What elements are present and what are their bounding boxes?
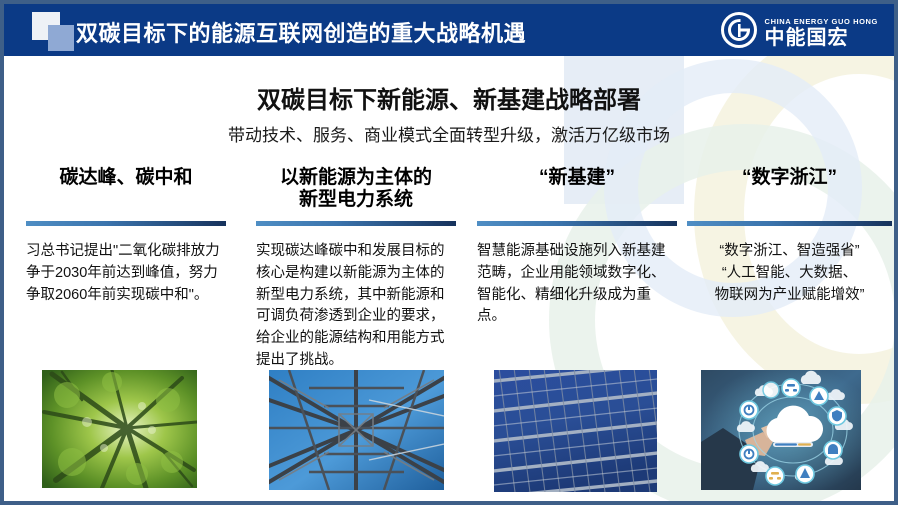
page-subtitle: 带动技术、服务、商业模式全面转型升级，激活万亿级市场 xyxy=(4,121,894,146)
transmission-tower-photo xyxy=(269,370,444,490)
column-body-text: 智慧能源基础设施列入新基建范畴，企业用能领域数字化、智能化、精细化升级成为重点。 xyxy=(477,241,677,328)
header-bar: 双碳目标下的能源互联网创造的重大战略机遇 CHINA ENERGY GUO HO… xyxy=(4,4,894,56)
column-body-text: 习总书记提出"二氧化碳排放力争于2030年前达到峰值，努力争取2060年前实现碳… xyxy=(26,241,226,306)
content-column-4: “数字浙江” “数字浙江、智造强省”“人工智能、大数据、物联网为产业赋能增效” xyxy=(687,167,892,306)
column-body-text: 实现碳达峰碳中和发展目标的核心是构建以新能源为主体的新型电力系统，其中新能源和可… xyxy=(256,241,456,372)
header-square-blue-icon xyxy=(48,25,74,51)
column-divider xyxy=(477,221,677,226)
column-heading: “新基建” xyxy=(477,167,677,215)
brand-chinese-name: 中能国宏 xyxy=(765,28,878,48)
column-heading: 碳达峰、碳中和 xyxy=(26,167,226,215)
column-divider xyxy=(256,221,456,226)
brand-text: CHINA ENERGY GUO HONG 中能国宏 xyxy=(765,17,878,48)
page-title: 双碳目标下新能源、新基建战略部署 xyxy=(4,80,894,115)
content-column-2: 以新能源为主体的新型电力系统 实现碳达峰碳中和发展目标的核心是构建以新能源为主体… xyxy=(256,167,456,372)
column-divider xyxy=(26,221,226,226)
content-column-3: “新基建” 智慧能源基础设施列入新基建范畴，企业用能领域数字化、智能化、精细化升… xyxy=(477,167,677,328)
column-heading: 以新能源为主体的新型电力系统 xyxy=(256,167,456,215)
solar-panel-photo xyxy=(494,370,657,492)
brand-english-name: CHINA ENERGY GUO HONG xyxy=(765,17,878,26)
column-divider xyxy=(687,221,892,226)
forest-canopy-photo xyxy=(42,370,197,488)
circle-g-icon xyxy=(720,11,758,54)
column-heading: “数字浙江” xyxy=(687,167,892,215)
column-body-text: “数字浙江、智造强省”“人工智能、大数据、物联网为产业赋能增效” xyxy=(687,241,892,306)
brand-logo: CHINA ENERGY GUO HONG 中能国宏 xyxy=(720,11,878,54)
slide-canvas: 双碳目标下的能源互联网创造的重大战略机遇 CHINA ENERGY GUO HO… xyxy=(0,0,898,505)
cloud-computing-photo xyxy=(701,370,861,490)
header-title: 双碳目标下的能源互联网创造的重大战略机遇 xyxy=(76,16,526,48)
content-column-1: 碳达峰、碳中和 习总书记提出"二氧化碳排放力争于2030年前达到峰值，努力争取2… xyxy=(26,167,226,306)
